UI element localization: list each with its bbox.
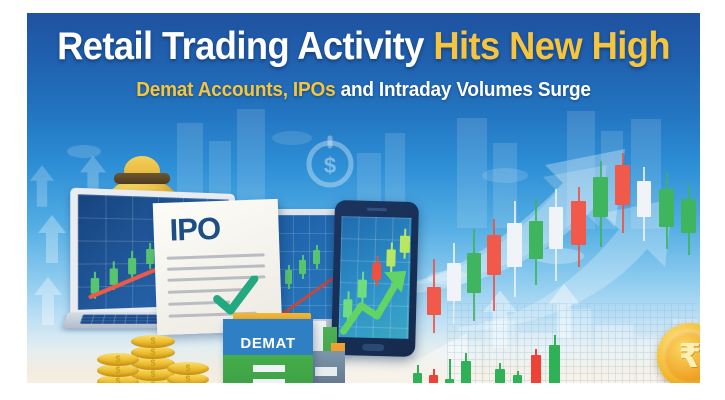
phone-speaker	[367, 208, 387, 212]
ipo-label: IPO	[169, 211, 221, 249]
candle-body-neutral	[445, 379, 454, 383]
up-arrow-left-1	[37, 213, 67, 265]
up-arrow-left-3	[29, 163, 55, 209]
candle-body-up	[593, 177, 608, 217]
gold-coin: $	[97, 353, 139, 366]
page-title: Retail Trading Activity Hits New High	[51, 27, 677, 68]
dollar-circle-badge: $	[303, 135, 357, 189]
phone-screen	[338, 216, 411, 339]
infographic-banner: $	[27, 13, 700, 383]
checkmark-icon	[212, 276, 259, 318]
phone-rising-arrow-icon	[338, 249, 410, 339]
gold-coin: $	[131, 335, 175, 348]
dollar-symbol-icon: $	[167, 362, 209, 375]
candle-body-neutral	[447, 263, 461, 301]
candle-body-down	[571, 201, 586, 245]
candle-8	[571, 187, 586, 267]
demat-filing-box-label	[315, 367, 337, 376]
candle-body-neutral	[637, 181, 651, 217]
coin-stack-3: $ $ $	[167, 351, 209, 383]
rupee-symbol-icon: ₹	[664, 330, 700, 382]
candle-body-down	[429, 375, 438, 383]
svg-text:$: $	[324, 153, 336, 178]
candle-6	[529, 199, 543, 285]
title-yellow-part: Hits New High	[433, 25, 670, 68]
candle-body-up	[413, 373, 422, 383]
candle-body-up	[495, 369, 505, 383]
candle-11	[637, 167, 651, 241]
demat-binder: DEMAT	[223, 313, 345, 383]
candle-5	[507, 201, 522, 297]
coin-stack-2: $ $ $ $	[97, 353, 139, 383]
strip-candle-1	[413, 365, 422, 383]
candle-body-up	[461, 361, 471, 383]
candle-body-up	[659, 189, 674, 227]
doc-text-line	[167, 264, 265, 270]
dollar-symbol-icon: $	[97, 353, 139, 366]
money-bag-tie	[114, 173, 170, 184]
candle-4	[487, 219, 501, 311]
page-subtitle: Demat Accounts, IPOs and Intraday Volume…	[44, 79, 683, 102]
demat-binder-label-strip-2	[253, 379, 285, 383]
candle-body-down	[531, 355, 541, 383]
strip-candle-2	[429, 369, 438, 383]
strip-candle-4	[461, 353, 471, 383]
candle-10	[615, 153, 630, 233]
demat-binder-front: DEMAT	[223, 319, 313, 383]
candle-13	[681, 185, 696, 255]
candle-body-up	[549, 345, 560, 383]
candle-body-up	[467, 253, 481, 293]
phone-home-button	[362, 344, 384, 352]
strip-candle-5	[495, 363, 505, 383]
candle-body-up	[681, 199, 696, 233]
demat-label: DEMAT	[223, 335, 313, 352]
candle-body-up	[529, 221, 543, 259]
doc-text-line	[167, 253, 265, 259]
rupee-coin-inner: ₹	[664, 330, 700, 382]
candle-body-down	[615, 165, 630, 205]
background-building-3	[237, 109, 265, 203]
candle-1	[427, 259, 441, 333]
candle-body-neutral	[507, 223, 522, 267]
bottom-strip-candlesticks	[413, 343, 593, 383]
strip-candle-8	[549, 335, 560, 383]
strip-candle-3	[445, 359, 454, 383]
headline-block: Retail Trading Activity Hits New High De…	[27, 27, 700, 102]
candle-body-down	[487, 235, 501, 275]
candle-9	[593, 161, 608, 247]
rupee-coin: ₹	[657, 323, 700, 383]
title-white-part: Retail Trading Activity	[57, 25, 424, 68]
strip-candle-7	[531, 349, 541, 383]
dollar-symbol-icon: $	[131, 335, 175, 348]
gold-coin: $	[167, 362, 209, 375]
strip-candle-6	[513, 371, 522, 383]
up-arrow-left-2	[33, 275, 63, 327]
candle-12	[659, 173, 674, 249]
candle-7	[549, 189, 563, 281]
subtitle-yellow-part: Demat Accounts, IPOs	[136, 79, 335, 101]
subtitle-white-part: and Intraday Volumes Surge	[341, 79, 591, 101]
candle-body-down	[427, 287, 441, 315]
candle-body-neutral	[549, 207, 563, 249]
candle-body-up	[513, 375, 522, 383]
demat-binder-label-strip-1	[253, 365, 285, 372]
